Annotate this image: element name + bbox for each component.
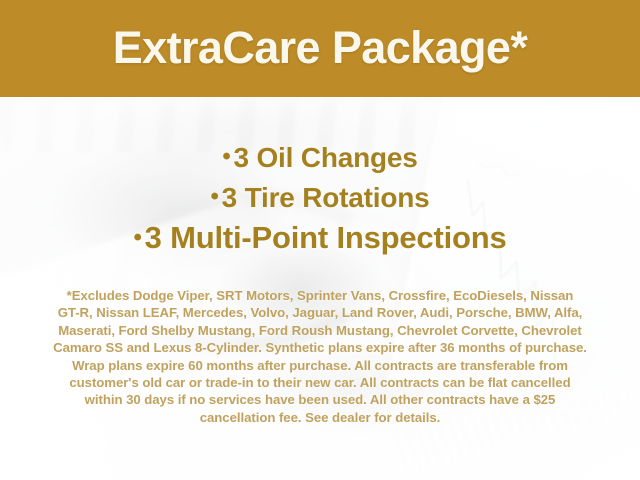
page-title: ExtraCare Package* [113,25,527,70]
benefits-list: •3 Oil Changes •3 Tire Rotations •3 Mult… [0,137,640,259]
disclaimer-line: customer's old car or trade-in to their … [30,374,610,391]
list-item: •3 Tire Rotations [0,177,640,217]
bullet-icon: • [210,183,218,210]
disclaimer-line: Maserati, Ford Shelby Mustang, Ford Rous… [30,322,610,339]
list-item: •3 Oil Changes [0,137,640,177]
disclaimer-line: Camaro SS and Lexus 8-Cylinder. Syntheti… [30,339,610,356]
disclaimer-line: cancellation fee. See dealer for details… [30,409,610,426]
benefit-label: 3 Tire Rotations [222,182,430,213]
bullet-icon: • [222,143,230,170]
benefit-label: 3 Multi-Point Inspections [145,220,507,255]
list-item: •3 Multi-Point Inspections [0,217,640,259]
header-band: ExtraCare Package* [0,0,640,97]
disclaimer-line: GT-R, Nissan LEAF, Mercedes, Volvo, Jagu… [30,304,610,321]
disclaimer-text: *Excludes Dodge Viper, SRT Motors, Sprin… [30,287,610,426]
disclaimer-line: *Excludes Dodge Viper, SRT Motors, Sprin… [30,287,610,304]
benefit-label: 3 Oil Changes [234,142,418,173]
extracare-package-ad: ExtraCare Package* •3 Oil Changes •3 Tir… [0,0,640,480]
bullet-icon: • [133,224,141,251]
disclaimer-line: within 30 days if no services have been … [30,391,610,408]
disclaimer-line: Wrap plans expire 60 months after purcha… [30,357,610,374]
